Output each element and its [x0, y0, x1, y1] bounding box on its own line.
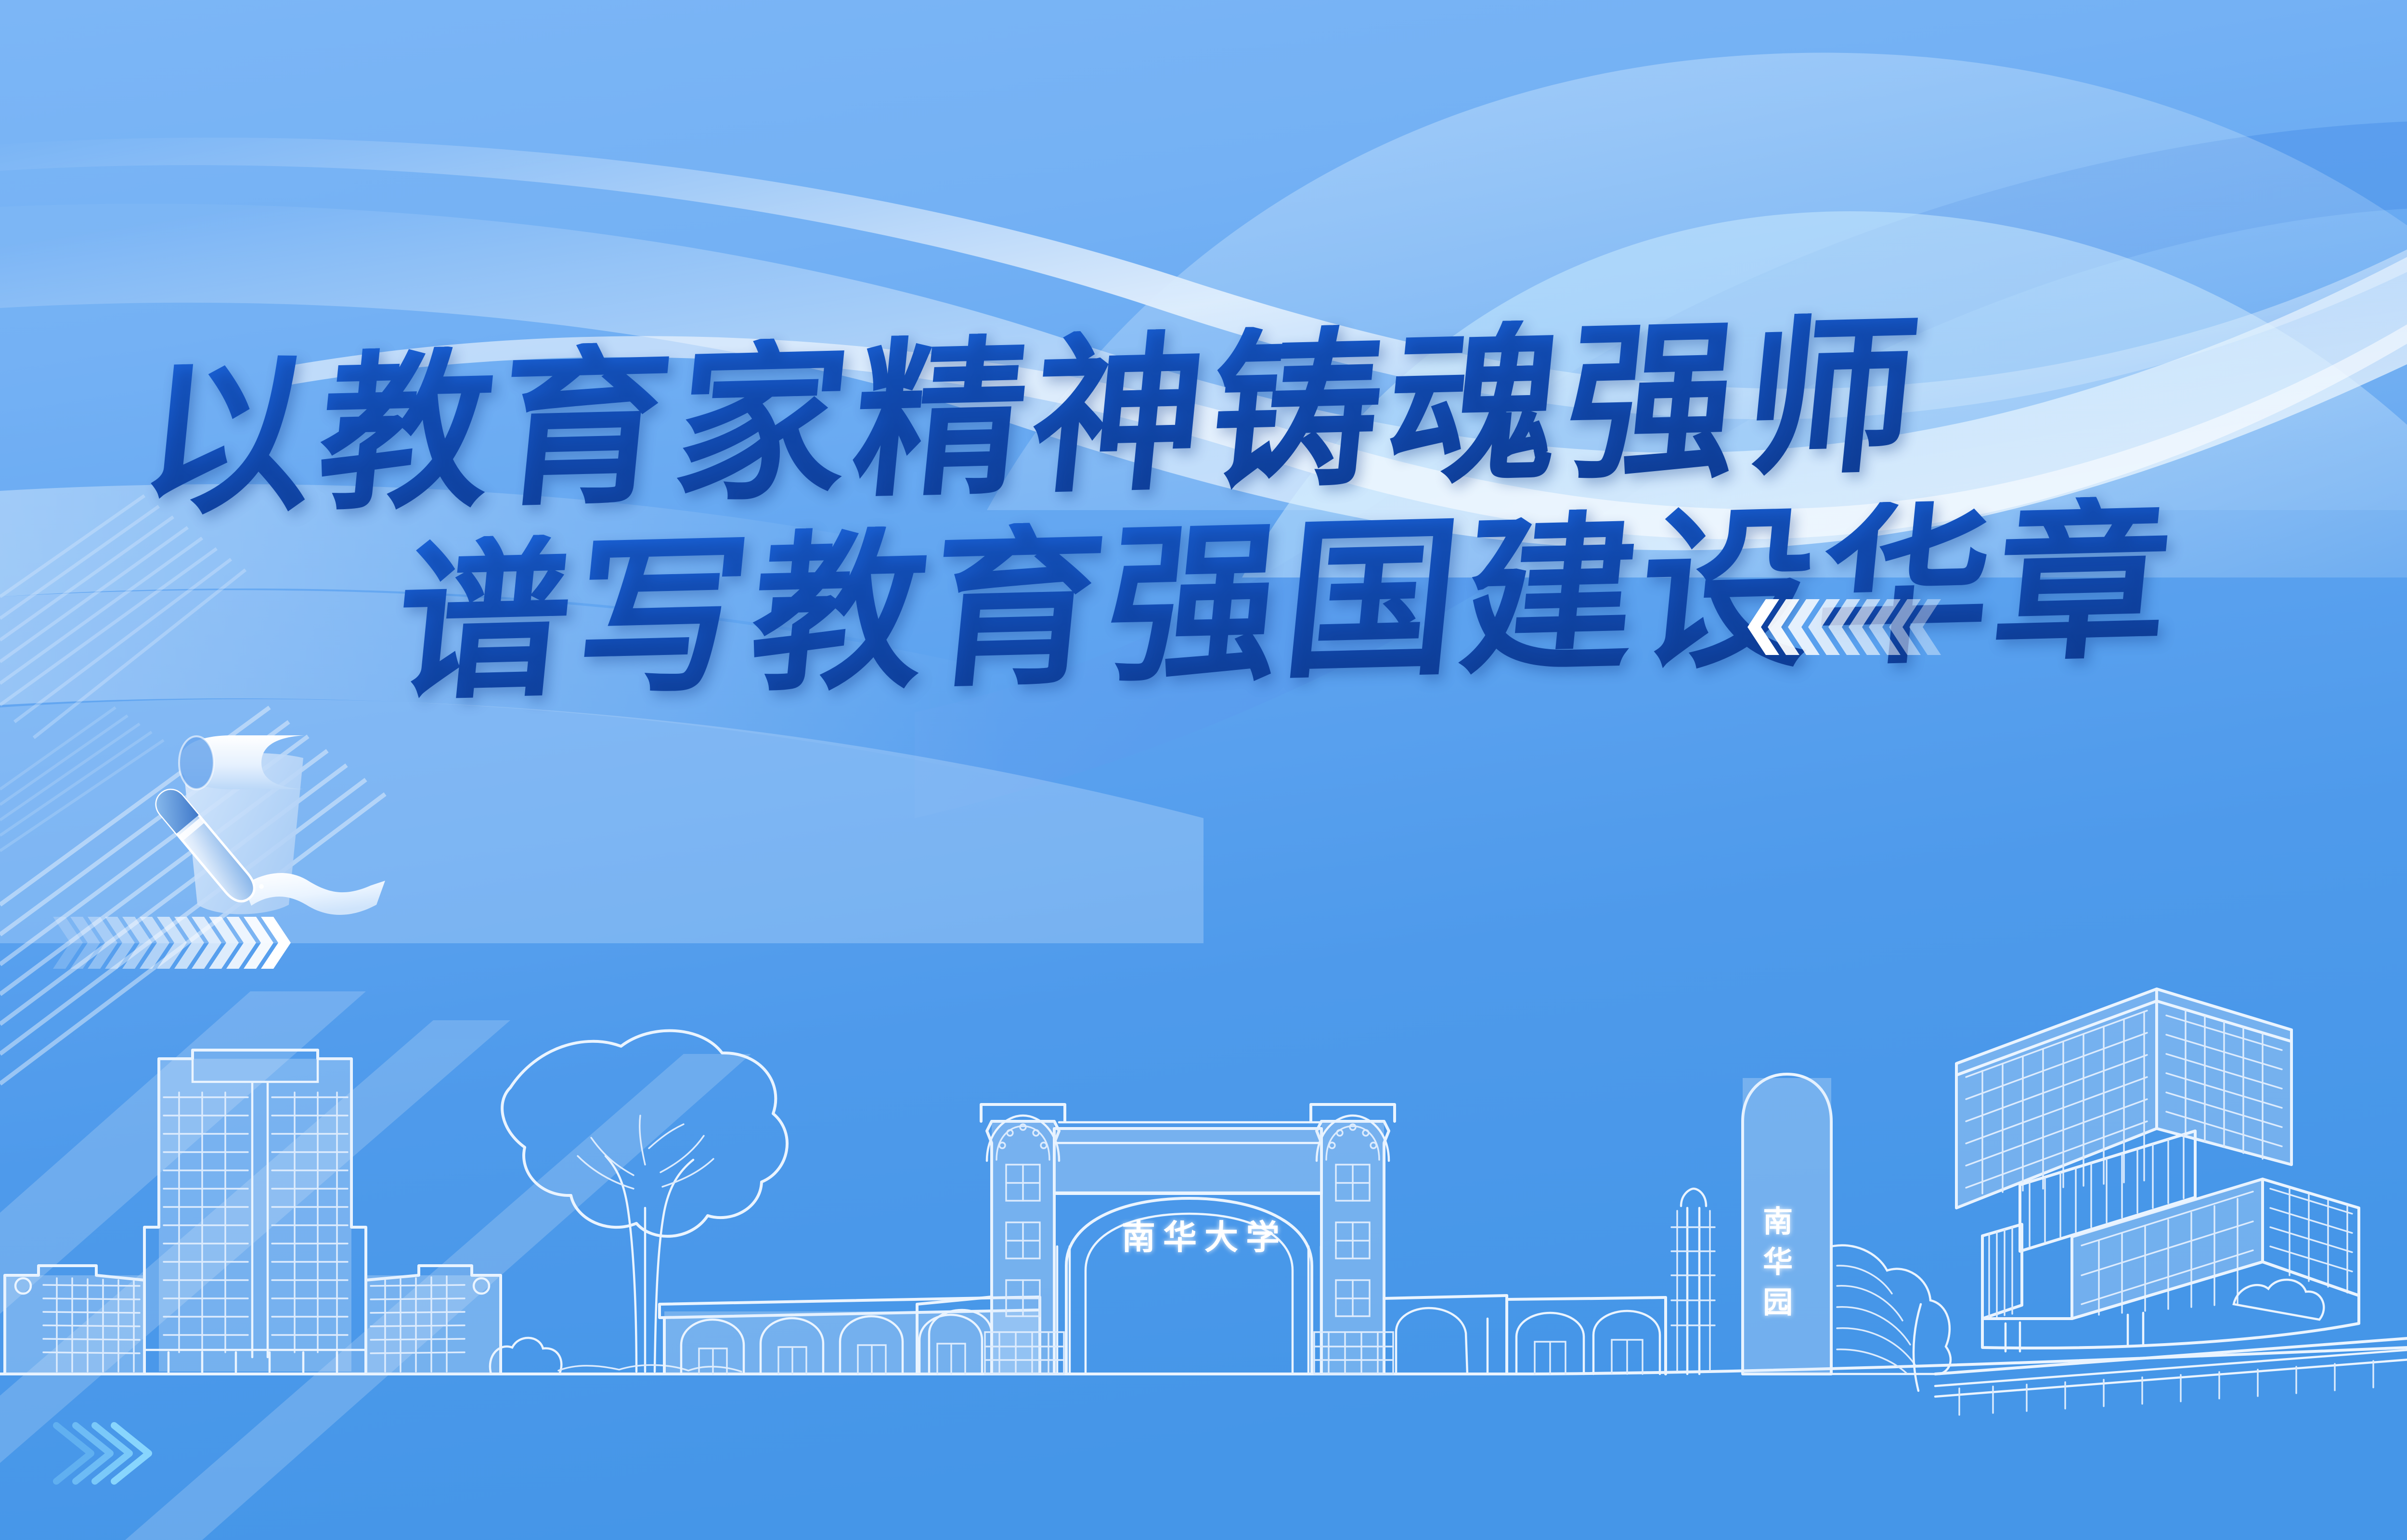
high-rise-tower	[144, 1050, 366, 1374]
poster-canvas: 以教育家精神铸魂强师 谱写教育强国建设华章	[0, 0, 2407, 1540]
arcade-colonnade-right	[1507, 1297, 1666, 1374]
stone-monument-text: 南华园	[1760, 1206, 1791, 1327]
arcade-colonnade-left	[660, 1297, 1040, 1374]
tower-wing-right	[366, 1266, 561, 1374]
scroll-and-pen-icon	[144, 679, 443, 977]
scroll-pen-svg	[144, 679, 443, 977]
gate-plaque-text: 南华大学	[1122, 1210, 1287, 1259]
lamp-post	[1671, 1189, 1715, 1374]
tower-wing-left	[5, 1266, 144, 1374]
